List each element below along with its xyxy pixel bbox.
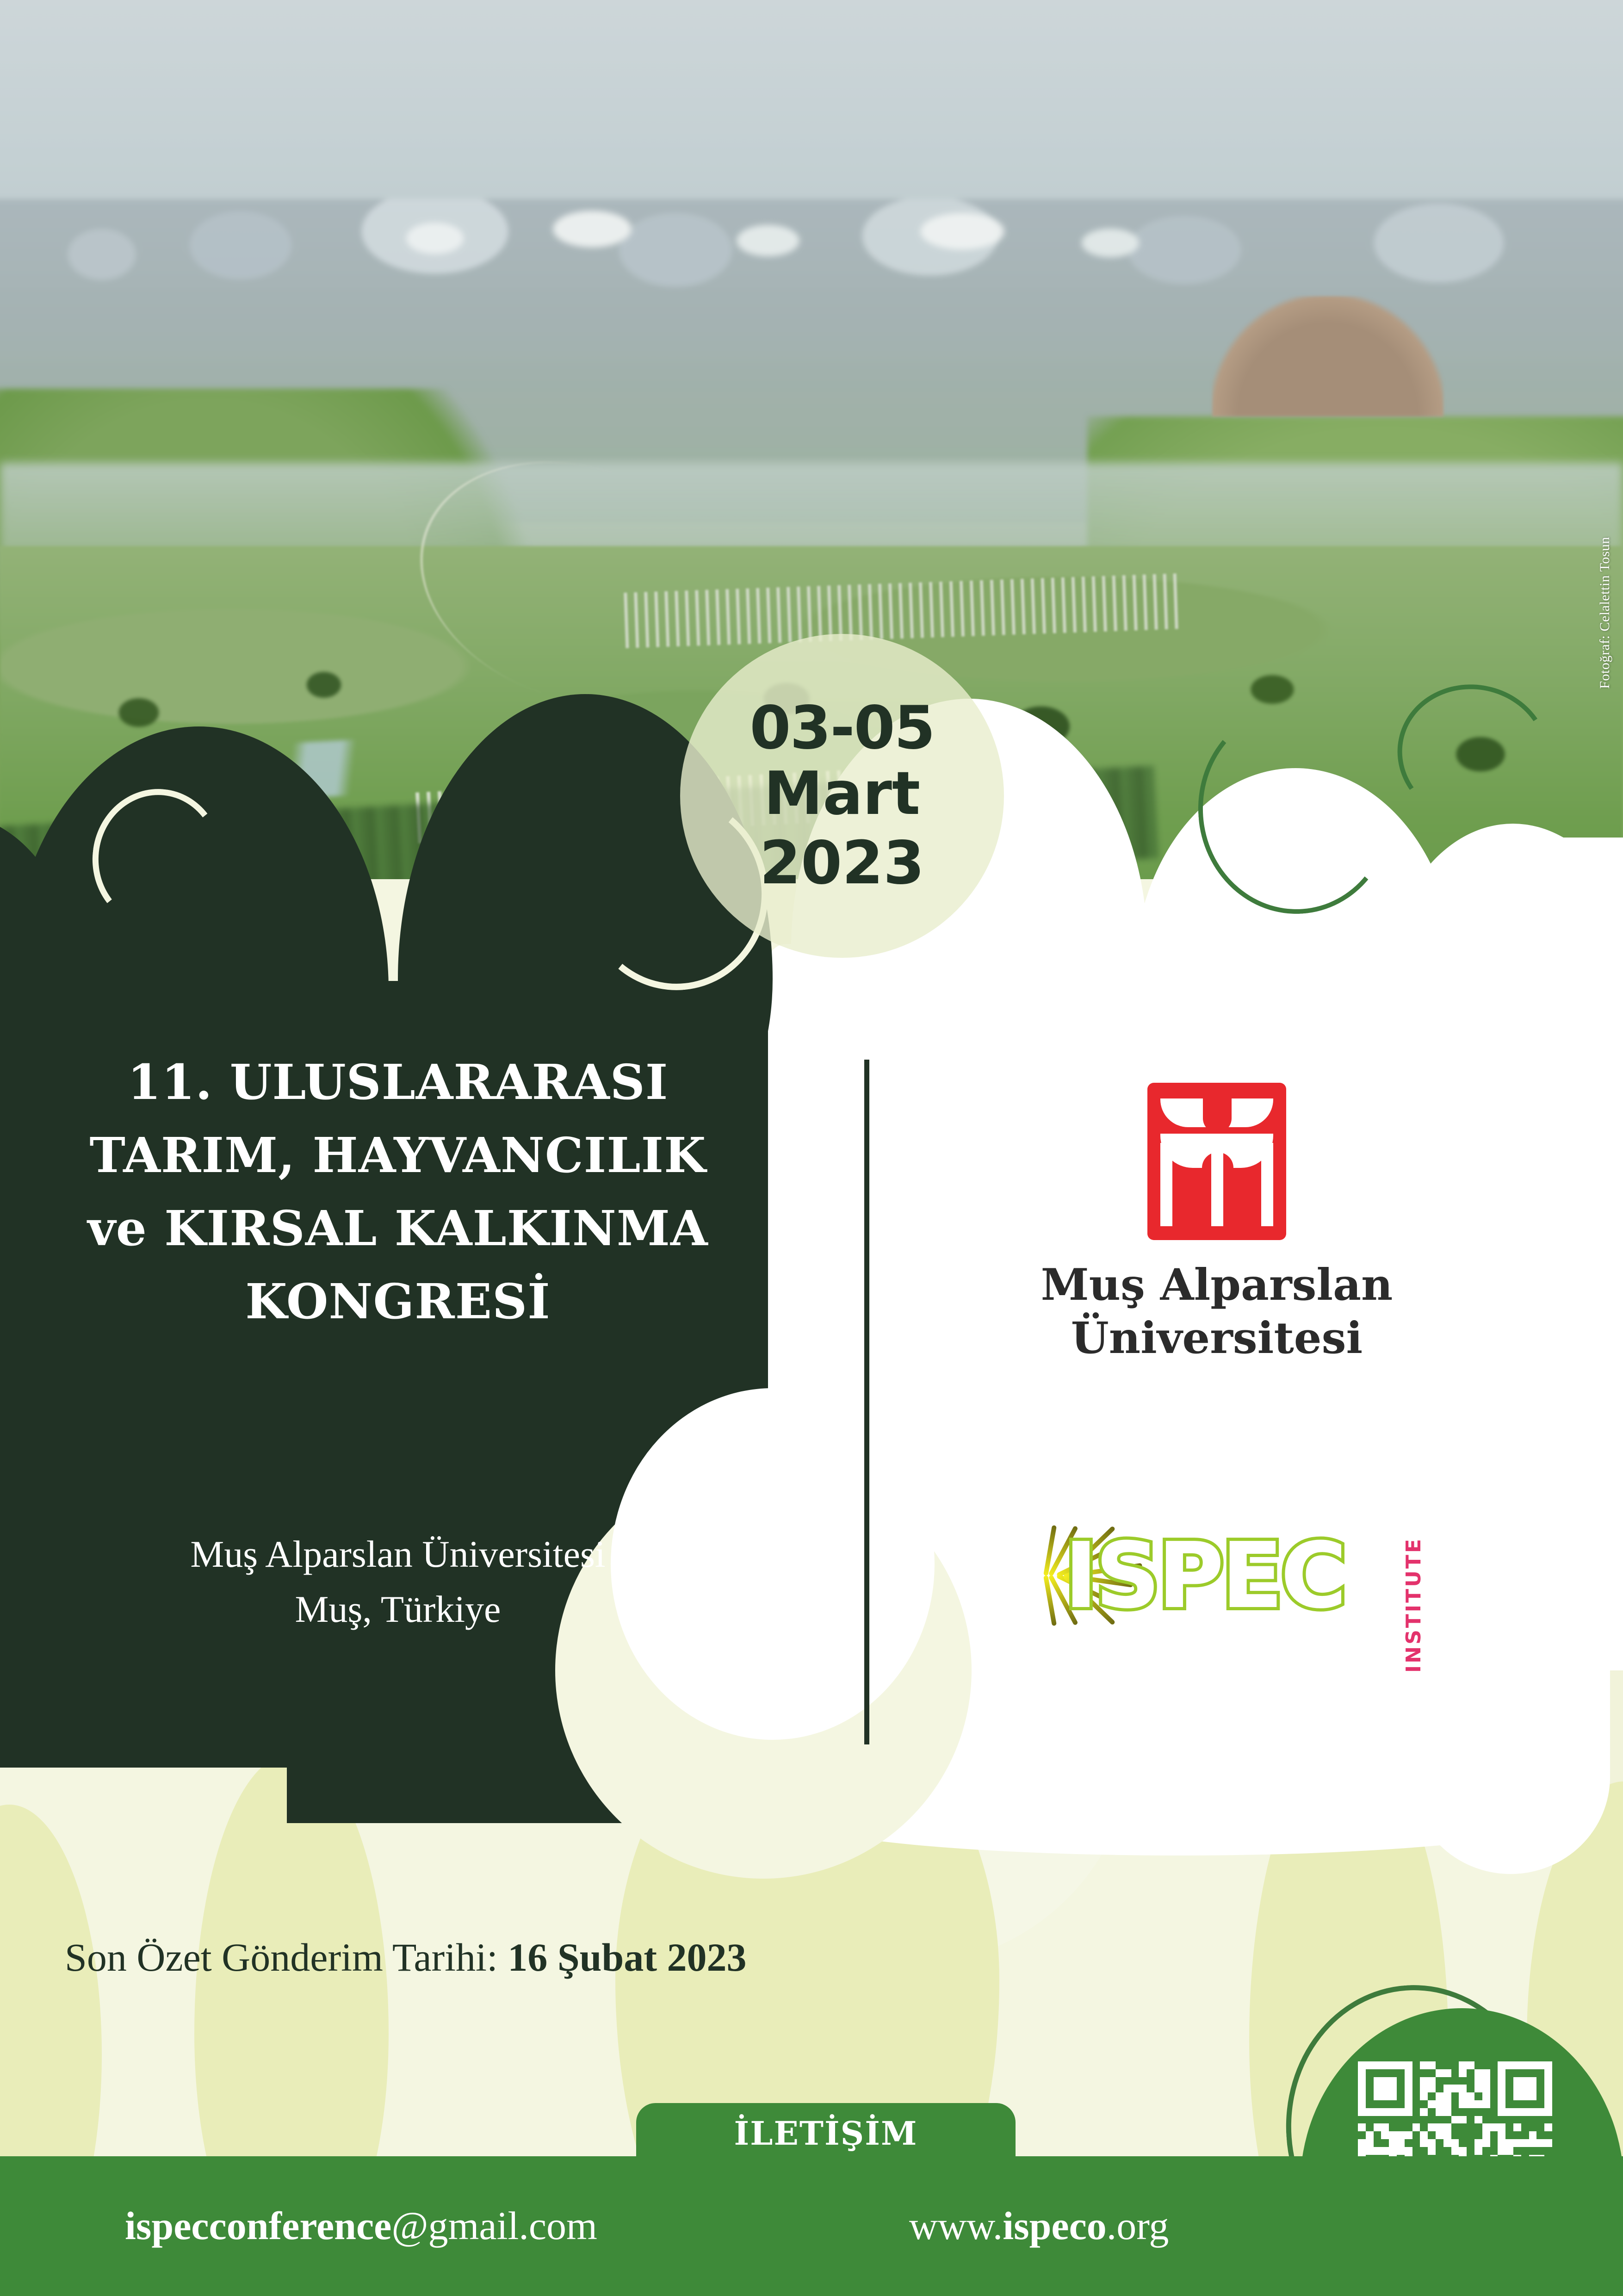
logo-column-left xyxy=(1160,1143,1172,1226)
qr-module xyxy=(1498,2139,1505,2147)
qr-module xyxy=(1490,2069,1498,2077)
qr-module xyxy=(1389,2131,1397,2139)
qr-module xyxy=(1420,2147,1428,2155)
vertical-divider xyxy=(864,1060,869,1744)
qr-module xyxy=(1544,2092,1552,2100)
qr-module xyxy=(1374,2077,1381,2085)
qr-module xyxy=(1490,2108,1498,2116)
qr-module xyxy=(1498,2131,1505,2139)
qr-module xyxy=(1490,2116,1498,2124)
qr-module xyxy=(1536,2061,1544,2069)
qr-module xyxy=(1451,2085,1459,2092)
qr-module xyxy=(1397,2100,1405,2108)
qr-module xyxy=(1358,2061,1366,2069)
qr-module xyxy=(1451,2123,1459,2131)
qr-module xyxy=(1374,2100,1381,2108)
snow-peaks xyxy=(352,211,1161,298)
qr-module xyxy=(1451,2092,1459,2100)
qr-module xyxy=(1436,2116,1443,2124)
qr-module xyxy=(1374,2092,1381,2100)
qr-module xyxy=(1544,2108,1552,2116)
qr-module xyxy=(1436,2108,1443,2116)
qr-module xyxy=(1381,2116,1389,2124)
qr-module xyxy=(1467,2108,1474,2116)
qr-module xyxy=(1529,2069,1537,2077)
qr-module xyxy=(1443,2085,1451,2092)
qr-module xyxy=(1459,2147,1467,2155)
qr-module xyxy=(1459,2123,1467,2131)
qr-module xyxy=(1374,2139,1381,2147)
qr-module xyxy=(1397,2116,1405,2124)
qr-module xyxy=(1482,2123,1490,2131)
qr-module xyxy=(1374,2061,1381,2069)
qr-module xyxy=(1467,2123,1474,2131)
qr-module xyxy=(1529,2108,1537,2116)
title-line-1: 11. ULUSLARARASI xyxy=(28,1046,768,1119)
qr-module xyxy=(1544,2139,1552,2147)
qr-module xyxy=(1474,2100,1482,2108)
qr-module xyxy=(1397,2085,1405,2092)
qr-module xyxy=(1436,2085,1443,2092)
qr-module xyxy=(1412,2077,1420,2085)
qr-module xyxy=(1467,2139,1474,2147)
qr-module xyxy=(1498,2085,1505,2092)
qr-module xyxy=(1513,2077,1521,2085)
qr-module xyxy=(1358,2147,1366,2155)
qr-module xyxy=(1428,2123,1436,2131)
qr-module xyxy=(1544,2131,1552,2139)
qr-module xyxy=(1498,2123,1505,2131)
qr-module xyxy=(1536,2131,1544,2139)
qr-module xyxy=(1420,2092,1428,2100)
qr-module xyxy=(1428,2139,1436,2147)
qr-module xyxy=(1490,2123,1498,2131)
qr-module xyxy=(1405,2139,1412,2147)
qr-module xyxy=(1521,2077,1529,2085)
qr-module xyxy=(1397,2069,1405,2077)
qr-module xyxy=(1521,2123,1529,2131)
qr-module xyxy=(1490,2085,1498,2092)
qr-module xyxy=(1366,2123,1374,2131)
qr-module xyxy=(1381,2131,1389,2139)
qr-module xyxy=(1374,2123,1381,2131)
qr-module xyxy=(1397,2123,1405,2131)
qr-module xyxy=(1420,2108,1428,2116)
qr-module xyxy=(1405,2085,1412,2092)
qr-module xyxy=(1482,2100,1490,2108)
qr-module xyxy=(1443,2069,1451,2077)
qr-module xyxy=(1428,2092,1436,2100)
qr-module xyxy=(1358,2069,1366,2077)
brown-mound xyxy=(1212,296,1443,416)
qr-module xyxy=(1459,2085,1467,2092)
qr-module xyxy=(1374,2116,1381,2124)
qr-module xyxy=(1436,2061,1443,2069)
logo-column-right xyxy=(1261,1143,1273,1226)
qr-module xyxy=(1389,2061,1397,2069)
ispec-logo: ISPEC ISPEC INSTITUTE xyxy=(972,1495,1462,1670)
qr-module xyxy=(1397,2108,1405,2116)
qr-module xyxy=(1420,2139,1428,2147)
qr-module xyxy=(1397,2061,1405,2069)
qr-module xyxy=(1529,2123,1537,2131)
qr-module xyxy=(1505,2147,1513,2155)
qr-module xyxy=(1358,2085,1366,2092)
qr-module xyxy=(1366,2108,1374,2116)
qr-module xyxy=(1451,2100,1459,2108)
qr-module xyxy=(1374,2131,1381,2139)
qr-module xyxy=(1366,2069,1374,2077)
qr-module xyxy=(1389,2147,1397,2155)
qr-module xyxy=(1505,2077,1513,2085)
white-fill xyxy=(1485,838,1623,1670)
qr-module xyxy=(1428,2061,1436,2069)
qr-module xyxy=(1498,2061,1505,2069)
qr-module xyxy=(1428,2085,1436,2092)
university-name: Muş Alparslan Üniversitesi xyxy=(907,1259,1527,1365)
qr-module xyxy=(1467,2092,1474,2100)
qr-module xyxy=(1459,2131,1467,2139)
qr-module xyxy=(1521,2116,1529,2124)
contact-website[interactable]: www.ispeco.org xyxy=(909,2203,1169,2249)
qr-module xyxy=(1529,2092,1537,2100)
qr-module xyxy=(1443,2131,1451,2139)
qr-module xyxy=(1366,2092,1374,2100)
qr-module xyxy=(1498,2108,1505,2116)
qr-module xyxy=(1381,2092,1389,2100)
qr-module xyxy=(1366,2061,1374,2069)
qr-module xyxy=(1420,2116,1428,2124)
qr-module xyxy=(1513,2069,1521,2077)
qr-module xyxy=(1358,2108,1366,2116)
qr-module xyxy=(1451,2061,1459,2069)
qr-module xyxy=(1443,2061,1451,2069)
qr-module xyxy=(1459,2061,1467,2069)
qr-module xyxy=(1459,2139,1467,2147)
qr-module xyxy=(1381,2147,1389,2155)
university-name-line-1: Muş Alparslan xyxy=(907,1259,1527,1312)
qr-module xyxy=(1467,2100,1474,2108)
qr-module xyxy=(1389,2100,1397,2108)
university-name-line-2: Üniversitesi xyxy=(907,1312,1527,1365)
qr-module xyxy=(1490,2077,1498,2085)
qr-module xyxy=(1412,2069,1420,2077)
qr-module xyxy=(1436,2069,1443,2077)
qr-module xyxy=(1467,2147,1474,2155)
qr-module xyxy=(1443,2077,1451,2085)
qr-module xyxy=(1436,2092,1443,2100)
qr-module xyxy=(1358,2116,1366,2124)
qr-module xyxy=(1412,2092,1420,2100)
qr-module xyxy=(1498,2069,1505,2077)
qr-module xyxy=(1405,2069,1412,2077)
qr-module xyxy=(1505,2061,1513,2069)
qr-module xyxy=(1420,2069,1428,2077)
qr-module xyxy=(1536,2116,1544,2124)
qr-module xyxy=(1474,2131,1482,2139)
qr-module xyxy=(1529,2061,1537,2069)
qr-module xyxy=(1482,2108,1490,2116)
university-logo-icon xyxy=(1147,1083,1286,1240)
qr-module xyxy=(1490,2139,1498,2147)
qr-module xyxy=(1467,2131,1474,2139)
qr-module xyxy=(1474,2139,1482,2147)
qr-module xyxy=(1521,2092,1529,2100)
email-domain: @gmail.com xyxy=(391,2203,597,2248)
qr-module xyxy=(1505,2069,1513,2077)
qr-module xyxy=(1389,2077,1397,2085)
qr-module xyxy=(1536,2100,1544,2108)
qr-module xyxy=(1436,2147,1443,2155)
qr-module xyxy=(1482,2061,1490,2069)
qr-module xyxy=(1513,2131,1521,2139)
qr-module xyxy=(1490,2092,1498,2100)
qr-module xyxy=(1436,2139,1443,2147)
qr-module xyxy=(1405,2100,1412,2108)
qr-module xyxy=(1513,2061,1521,2069)
qr-module xyxy=(1505,2116,1513,2124)
qr-module xyxy=(1474,2069,1482,2077)
qr-module xyxy=(1374,2085,1381,2092)
qr-module xyxy=(1490,2131,1498,2139)
qr-module xyxy=(1459,2092,1467,2100)
qr-module xyxy=(1428,2116,1436,2124)
qr-module xyxy=(1405,2147,1412,2155)
qr-module xyxy=(1482,2147,1490,2155)
qr-module xyxy=(1513,2116,1521,2124)
web-prefix: www. xyxy=(909,2203,1003,2248)
qr-module xyxy=(1513,2147,1521,2155)
qr-module xyxy=(1536,2123,1544,2131)
title-line-2: TARIM, HAYVANCILIK xyxy=(28,1119,768,1192)
qr-module xyxy=(1459,2077,1467,2085)
qr-module xyxy=(1366,2116,1374,2124)
qr-module xyxy=(1358,2077,1366,2085)
qr-module xyxy=(1536,2069,1544,2077)
qr-module xyxy=(1358,2131,1366,2139)
qr-module xyxy=(1490,2147,1498,2155)
qr-module xyxy=(1521,2147,1529,2155)
qr-module xyxy=(1366,2100,1374,2108)
title-line-4: KONGRESİ xyxy=(28,1265,768,1338)
qr-module xyxy=(1389,2069,1397,2077)
qr-module xyxy=(1420,2123,1428,2131)
qr-module xyxy=(1482,2085,1490,2092)
qr-module xyxy=(1521,2085,1529,2092)
qr-module xyxy=(1474,2061,1482,2069)
qr-module xyxy=(1405,2092,1412,2100)
qr-module xyxy=(1374,2069,1381,2077)
qr-module xyxy=(1451,2116,1459,2124)
qr-module xyxy=(1529,2100,1537,2108)
title-line-3: ve KIRSAL KALKINMA xyxy=(28,1192,768,1265)
qr-module xyxy=(1389,2123,1397,2131)
qr-module xyxy=(1521,2061,1529,2069)
qr-module xyxy=(1412,2147,1420,2155)
abstract-deadline: Son Özet Gönderim Tarihi: 16 Şubat 2023 xyxy=(65,1934,746,1980)
qr-module xyxy=(1381,2061,1389,2069)
qr-module xyxy=(1428,2100,1436,2108)
qr-module xyxy=(1443,2139,1451,2147)
qr-module xyxy=(1498,2100,1505,2108)
qr-module xyxy=(1529,2116,1537,2124)
qr-module xyxy=(1412,2100,1420,2108)
contact-tab-label: İLETİŞİM xyxy=(734,2114,918,2153)
qr-module xyxy=(1381,2085,1389,2092)
date-year: 2023 xyxy=(760,834,924,893)
contact-tab: İLETİŞİM xyxy=(636,2103,1016,2163)
web-suffix: .org xyxy=(1107,2203,1169,2248)
qr-module xyxy=(1544,2123,1552,2131)
qr-module xyxy=(1428,2108,1436,2116)
qr-module xyxy=(1529,2139,1537,2147)
qr-module xyxy=(1443,2100,1451,2108)
qr-module xyxy=(1374,2108,1381,2116)
qr-module xyxy=(1536,2077,1544,2085)
qr-module xyxy=(1397,2131,1405,2139)
qr-module xyxy=(1366,2077,1374,2085)
deadline-label: Son Özet Gönderim Tarihi: xyxy=(65,1935,498,1980)
qr-module xyxy=(1467,2116,1474,2124)
qr-module xyxy=(1521,2069,1529,2077)
qr-module xyxy=(1451,2077,1459,2085)
qr-module xyxy=(1405,2108,1412,2116)
qr-module xyxy=(1459,2100,1467,2108)
qr-module xyxy=(1482,2116,1490,2124)
qr-module xyxy=(1405,2061,1412,2069)
qr-module xyxy=(1428,2147,1436,2155)
qr-module xyxy=(1428,2131,1436,2139)
qr-module xyxy=(1498,2092,1505,2100)
qr-module xyxy=(1513,2100,1521,2108)
qr-module xyxy=(1451,2131,1459,2139)
qr-module xyxy=(1366,2139,1374,2147)
qr-module xyxy=(1505,2123,1513,2131)
qr-module xyxy=(1428,2077,1436,2085)
ispec-institute-label: INSTITUTE xyxy=(1402,1537,1425,1673)
qr-module xyxy=(1381,2139,1389,2147)
venue-line-1: Muş Alparslan Üniversitesi xyxy=(28,1527,768,1582)
qr-module xyxy=(1544,2061,1552,2069)
qr-module xyxy=(1521,2100,1529,2108)
date-badge: 03-05 Mart 2023 xyxy=(680,634,1004,958)
qr-module xyxy=(1498,2077,1505,2085)
qr-module xyxy=(1420,2085,1428,2092)
qr-module xyxy=(1358,2123,1366,2131)
qr-module xyxy=(1389,2092,1397,2100)
qr-module xyxy=(1412,2139,1420,2147)
qr-module xyxy=(1513,2123,1521,2131)
qr-module xyxy=(1420,2061,1428,2069)
logo-notch-top xyxy=(1203,1093,1232,1133)
qr-module xyxy=(1536,2092,1544,2100)
qr-module xyxy=(1459,2069,1467,2077)
qr-module xyxy=(1381,2100,1389,2108)
qr-module xyxy=(1536,2108,1544,2116)
qr-module xyxy=(1467,2085,1474,2092)
qr-module xyxy=(1521,2139,1529,2147)
qr-module xyxy=(1412,2131,1420,2139)
qr-module xyxy=(1482,2069,1490,2077)
qr-module xyxy=(1482,2131,1490,2139)
qr-module xyxy=(1505,2131,1513,2139)
qr-module xyxy=(1366,2085,1374,2092)
deadline-value: 16 Şubat 2023 xyxy=(508,1935,746,1980)
qr-module xyxy=(1405,2116,1412,2124)
qr-module xyxy=(1436,2077,1443,2085)
ispec-wordmark-fill: ISPEC xyxy=(1064,1531,1344,1621)
qr-module xyxy=(1451,2069,1459,2077)
qr-module xyxy=(1389,2108,1397,2116)
qr-module xyxy=(1443,2147,1451,2155)
qr-module xyxy=(1397,2139,1405,2147)
qr-module xyxy=(1536,2147,1544,2155)
qr-module xyxy=(1405,2123,1412,2131)
qr-module xyxy=(1474,2108,1482,2116)
qr-module xyxy=(1443,2092,1451,2100)
qr-module xyxy=(1412,2123,1420,2131)
qr-module xyxy=(1474,2085,1482,2092)
qr-module xyxy=(1505,2139,1513,2147)
qr-module xyxy=(1529,2131,1537,2139)
qr-module xyxy=(1358,2092,1366,2100)
qr-module xyxy=(1544,2069,1552,2077)
qr-module xyxy=(1420,2131,1428,2139)
qr-module xyxy=(1397,2092,1405,2100)
qr-module xyxy=(1505,2085,1513,2092)
qr-module xyxy=(1436,2131,1443,2139)
qr-module xyxy=(1374,2147,1381,2155)
qr-module xyxy=(1451,2139,1459,2147)
qr-module xyxy=(1428,2069,1436,2077)
qr-module xyxy=(1397,2147,1405,2155)
qr-module xyxy=(1420,2077,1428,2085)
date-month: Mart xyxy=(764,764,920,824)
qr-module xyxy=(1544,2085,1552,2092)
qr-module xyxy=(1482,2092,1490,2100)
qr-module xyxy=(1521,2131,1529,2139)
qr-module xyxy=(1513,2139,1521,2147)
qr-module xyxy=(1529,2085,1537,2092)
qr-module xyxy=(1474,2092,1482,2100)
qr-module xyxy=(1451,2108,1459,2116)
qr-module xyxy=(1389,2085,1397,2092)
qr-module xyxy=(1436,2123,1443,2131)
qr-module xyxy=(1397,2077,1405,2085)
qr-module xyxy=(1443,2116,1451,2124)
qr-module xyxy=(1474,2077,1482,2085)
qr-module xyxy=(1412,2061,1420,2069)
qr-module xyxy=(1498,2147,1505,2155)
qr-module xyxy=(1474,2147,1482,2155)
qr-module xyxy=(1474,2123,1482,2131)
qr-module xyxy=(1513,2085,1521,2092)
qr-module xyxy=(1536,2085,1544,2092)
qr-module xyxy=(1513,2092,1521,2100)
web-name: ispeco xyxy=(1003,2203,1107,2248)
qr-module xyxy=(1529,2147,1537,2155)
qr-module xyxy=(1443,2108,1451,2116)
qr-module xyxy=(1544,2077,1552,2085)
qr-module xyxy=(1467,2061,1474,2069)
qr-module xyxy=(1389,2116,1397,2124)
qr-module xyxy=(1505,2092,1513,2100)
qr-module xyxy=(1482,2077,1490,2085)
qr-module xyxy=(1436,2100,1443,2108)
contact-email[interactable]: ispecconference@gmail.com xyxy=(125,2203,597,2249)
conference-poster: Fotoğraf: Celalettin Tosun 03-05 Mart 20… xyxy=(0,0,1623,2296)
qr-module xyxy=(1474,2116,1482,2124)
